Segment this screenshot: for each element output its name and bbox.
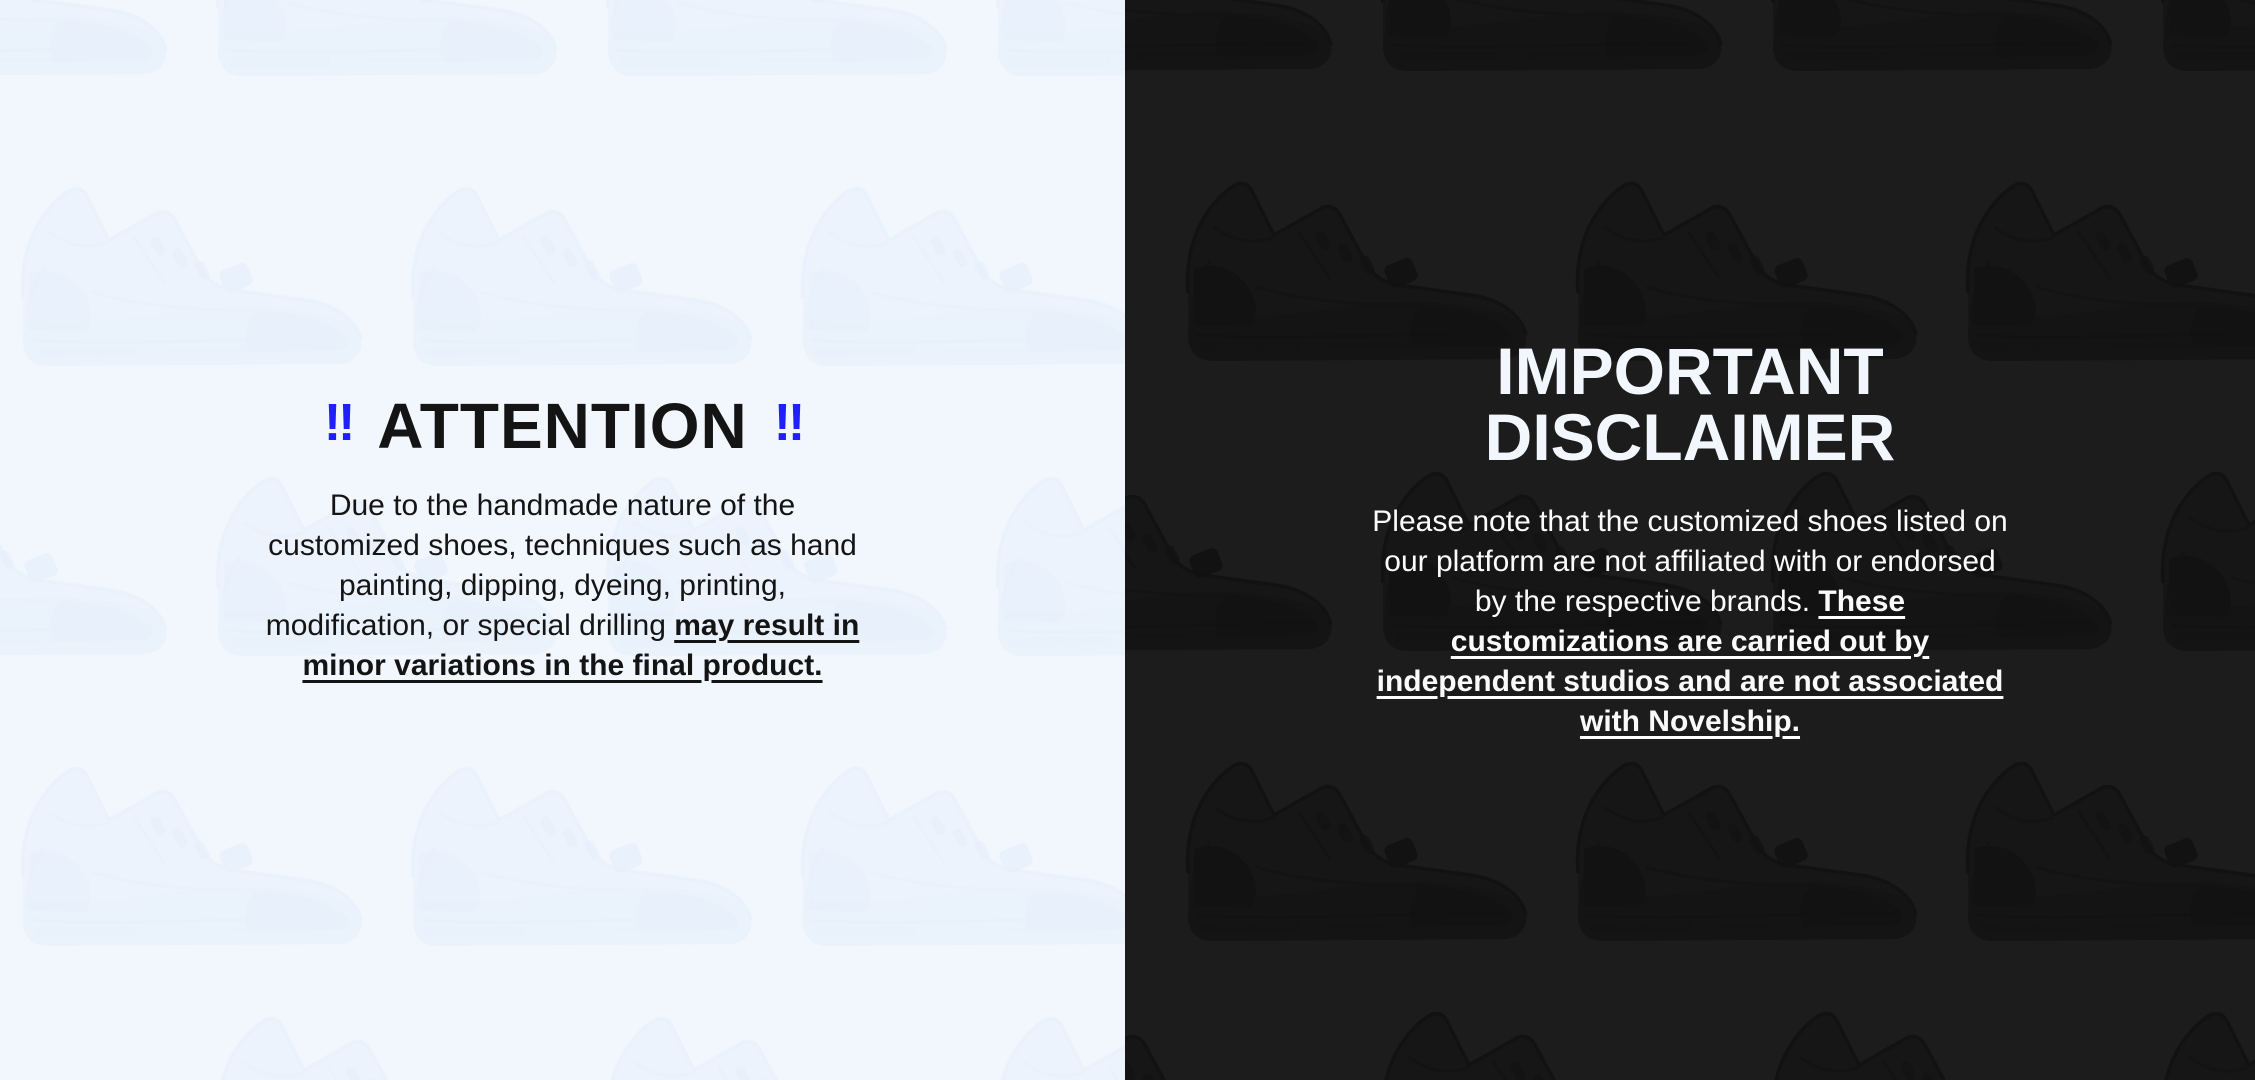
attention-body: Due to the handmade nature of the custom… [253, 486, 873, 685]
disclaimer-heading: IMPORTANT DISCLAIMER [1485, 338, 1896, 470]
attention-heading: ‼ ATTENTION ‼ [324, 394, 801, 458]
attention-content: ‼ ATTENTION ‼ Due to the handmade nature… [0, 394, 1125, 685]
attention-panel: ‼ ATTENTION ‼ Due to the handmade nature… [0, 0, 1125, 1080]
double-exclamation-icon-left: ‼ [324, 397, 351, 449]
disclaimer-body-lead: Please note that the customized shoes li… [1372, 505, 2007, 618]
disclaimer-panel: IMPORTANT DISCLAIMER Please note that th… [1125, 0, 2255, 1080]
disclaimer-heading-line2: DISCLAIMER [1485, 400, 1896, 474]
double-exclamation-icon-right: ‼ [774, 397, 801, 449]
attention-heading-text: ATTENTION [377, 394, 747, 458]
disclaimer-body: Please note that the customized shoes li… [1370, 502, 2010, 741]
split-disclaimer-banner: ‼ ATTENTION ‼ Due to the handmade nature… [0, 0, 2255, 1080]
disclaimer-content: IMPORTANT DISCLAIMER Please note that th… [1125, 338, 2255, 741]
disclaimer-heading-line1: IMPORTANT [1496, 334, 1883, 408]
